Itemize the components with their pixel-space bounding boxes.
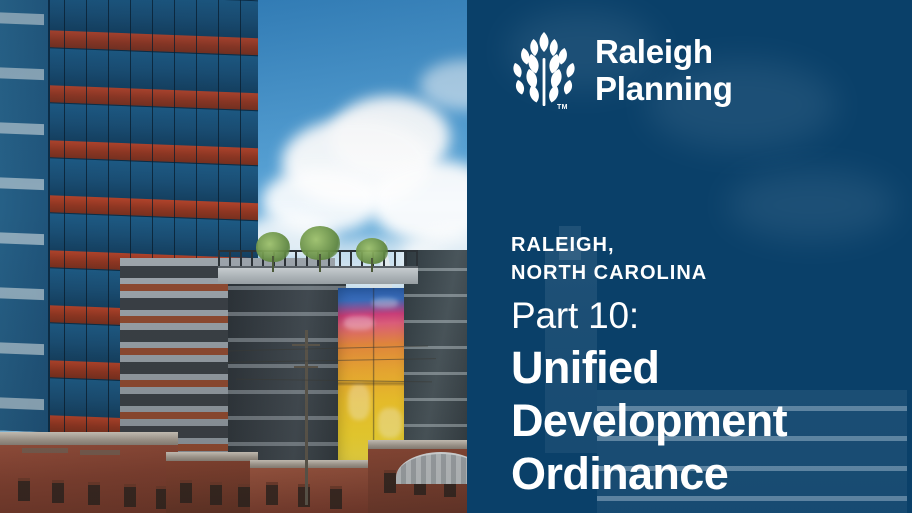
rooftop-terrace [218,266,418,284]
brick-warehouse [0,432,178,513]
brick-warehouse [166,452,258,513]
brand-logo-lockup: TM Raleigh Planning [509,30,733,112]
presentation-slide: TM Raleigh Planning RALEIGH, NORTH CAROL… [0,0,912,513]
rooftop-tree-trunk [272,256,274,272]
utility-pole-crossarm [292,344,320,346]
brick-warehouse [250,460,370,513]
rooftop-tree-trunk [371,258,373,272]
dark-glass-building [228,272,346,482]
rooftop-tree-trunk [319,254,321,272]
trademark-symbol: TM [557,104,568,111]
part-number-label: Part 10: [511,293,901,338]
title-panel: TM Raleigh Planning RALEIGH, NORTH CAROL… [467,0,912,513]
raleigh-oak-tree-icon: TM [509,30,579,112]
brand-wordmark: Raleigh Planning [595,34,733,108]
utility-pole-crossarm [294,366,318,368]
page-title: Unified Development Ordinance [511,342,901,500]
tower-left-facade [0,0,50,432]
location-eyebrow: RALEIGH, NORTH CAROLINA [511,232,901,287]
title-text-block: RALEIGH, NORTH CAROLINA Part 10: Unified… [511,232,901,500]
ghost-cloud [727,170,897,240]
utility-pole [305,330,308,505]
hero-photo [0,0,467,513]
